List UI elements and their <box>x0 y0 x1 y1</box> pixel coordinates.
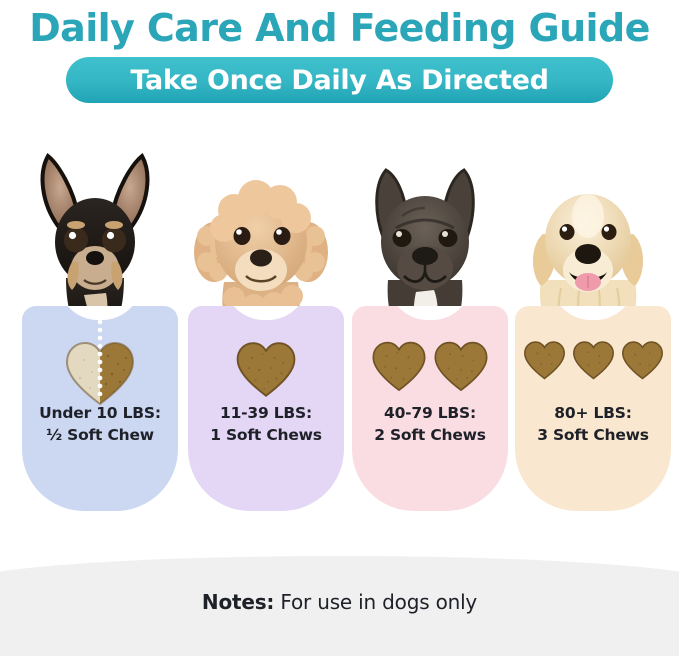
soft-chew-heart <box>523 340 566 384</box>
soft-chew-heart <box>235 340 297 402</box>
chew-graphic-two <box>352 340 508 396</box>
notes-line: Notes: For use in dogs only <box>0 590 679 614</box>
soft-chew-heart <box>572 340 615 384</box>
weight-range-label: 11-39 LBS: <box>220 404 312 422</box>
notes-footer: Notes: For use in dogs only <box>0 556 679 656</box>
dosage-label-40-79-lbs: 40-79 LBS: 2 Soft Chews <box>352 402 508 447</box>
weight-range-label: Under 10 LBS: <box>39 404 161 422</box>
dose-amount-label: ½ Soft Chew <box>22 424 178 446</box>
dosage-label-11-39-lbs: 11-39 LBS: 1 Soft Chews <box>188 402 344 447</box>
page-title: Daily Care And Feeding Guide <box>0 6 679 50</box>
dosage-label-under-10-lbs: Under 10 LBS: ½ Soft Chew <box>22 402 178 447</box>
dose-amount-label: 2 Soft Chews <box>352 424 508 446</box>
dosage-card-under-10-lbs: Under 10 LBS: ½ Soft Chew <box>14 130 176 520</box>
dosage-card-row: Under 10 LBS: ½ Soft Chew <box>0 130 679 520</box>
weight-range-label: 80+ LBS: <box>554 404 631 422</box>
dog-photo-french-bulldog <box>344 130 506 325</box>
notes-label: Notes: <box>202 590 274 614</box>
dose-amount-label: 3 Soft Chews <box>515 424 671 446</box>
directions-banner-text: Take Once Daily As Directed <box>130 67 548 94</box>
soft-chew-heart <box>371 340 427 396</box>
notes-text: For use in dogs only <box>280 590 477 614</box>
directions-banner: Take Once Daily As Directed <box>66 57 613 103</box>
dog-photo-golden-retriever <box>507 130 669 325</box>
dosage-panel-40-79-lbs: 40-79 LBS: 2 Soft Chews <box>352 306 508 511</box>
dosage-card-40-79-lbs: 40-79 LBS: 2 Soft Chews <box>344 130 506 520</box>
dog-photo-poodle <box>180 130 342 325</box>
feeding-guide-infographic: Daily Care And Feeding Guide Take Once D… <box>0 0 679 656</box>
dosage-panel-under-10-lbs: Under 10 LBS: ½ Soft Chew <box>22 306 178 511</box>
weight-range-label: 40-79 LBS: <box>384 404 476 422</box>
dose-amount-label: 1 Soft Chews <box>188 424 344 446</box>
dosage-panel-80-plus-lbs: 80+ LBS: 3 Soft Chews <box>515 306 671 511</box>
half-dose-dotted-divider <box>98 318 103 396</box>
dosage-panel-11-39-lbs: 11-39 LBS: 1 Soft Chews <box>188 306 344 511</box>
chew-graphic-one <box>188 340 344 402</box>
dosage-card-80-plus-lbs: 80+ LBS: 3 Soft Chews <box>507 130 669 520</box>
dosage-label-80-plus-lbs: 80+ LBS: 3 Soft Chews <box>515 402 671 447</box>
dosage-card-11-39-lbs: 11-39 LBS: 1 Soft Chews <box>180 130 342 520</box>
chew-graphic-three <box>515 340 671 384</box>
soft-chew-heart <box>621 340 664 384</box>
soft-chew-heart <box>433 340 489 396</box>
dog-photo-chihuahua <box>14 130 176 325</box>
